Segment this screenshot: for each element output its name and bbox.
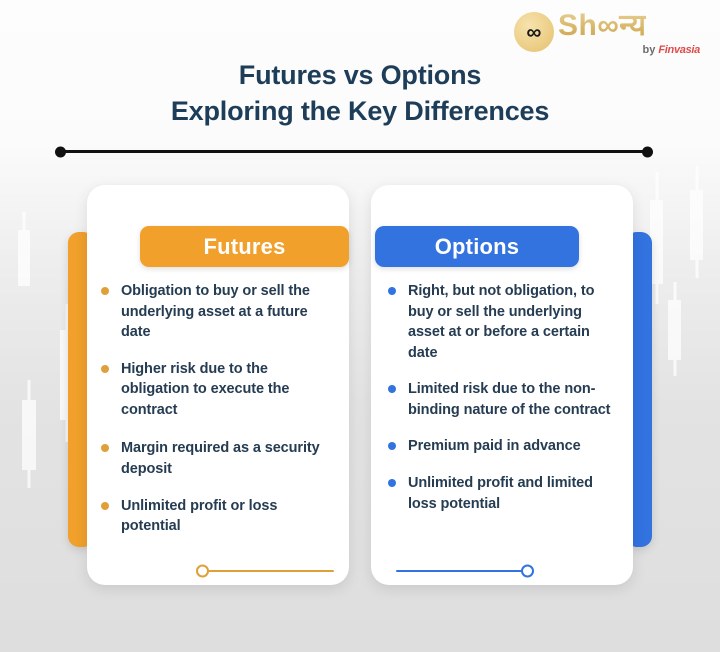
list-item-text: Higher risk due to the obligation to exe…: [121, 359, 326, 421]
infinity-icon: ∞: [514, 12, 554, 52]
list-item: Premium paid in advance: [388, 436, 613, 457]
page-title: Futures vs Options Exploring the Key Dif…: [0, 58, 720, 130]
list-item-text: Unlimited profit and limited loss potent…: [408, 473, 613, 514]
heading-badge-options: Options: [375, 226, 579, 267]
candle-bar: [690, 190, 703, 260]
list-item-text: Unlimited profit or loss potential: [121, 496, 326, 537]
bullet-dot-icon: [101, 502, 109, 510]
candle-bar: [668, 300, 681, 360]
list-item-text: Right, but not obligation, to buy or sel…: [408, 281, 613, 363]
bullet-dot-icon: [388, 442, 396, 450]
page-title-line-1: Futures vs Options: [0, 58, 720, 94]
infinity-glyph: ∞: [514, 12, 554, 52]
heading-badge-futures: Futures: [140, 226, 349, 267]
logo-byline-prefix: by: [642, 44, 658, 56]
list-item: Limited risk due to the non-binding natu…: [388, 379, 613, 420]
bullet-dot-icon: [101, 444, 109, 452]
list-item: Unlimited profit and limited loss potent…: [388, 473, 613, 514]
page-title-line-2: Exploring the Key Differences: [0, 94, 720, 130]
slider-track[interactable]: [196, 570, 334, 572]
list-item: Unlimited profit or loss potential: [101, 496, 326, 537]
slider-track[interactable]: [396, 570, 534, 572]
bullet-dot-icon: [388, 479, 396, 487]
divider-dot-right: [642, 146, 653, 157]
divider-dot-left: [55, 146, 66, 157]
bullet-dot-icon: [101, 365, 109, 373]
slider-futures[interactable]: [196, 564, 334, 578]
list-item: Margin required as a security deposit: [101, 438, 326, 479]
candle-bar: [22, 400, 36, 470]
logo-wordmark: Sh∞न्य: [558, 8, 646, 44]
logo-byline-brand: Finvasia: [658, 44, 700, 56]
bullet-dot-icon: [388, 385, 396, 393]
list-item: Higher risk due to the obligation to exe…: [101, 359, 326, 421]
list-item-text: Margin required as a security deposit: [121, 438, 326, 479]
brand-logo: ∞ Sh∞न्य by Finvasia: [506, 6, 706, 64]
list-item: Obligation to buy or sell the underlying…: [101, 281, 326, 343]
slider-handle[interactable]: [196, 565, 209, 578]
candle-bar: [18, 230, 30, 286]
logo-byline: by Finvasia: [642, 44, 700, 56]
bullet-list-options: Right, but not obligation, to buy or sel…: [388, 281, 613, 530]
bullet-dot-icon: [101, 287, 109, 295]
bullet-dot-icon: [388, 287, 396, 295]
list-item-text: Limited risk due to the non-binding natu…: [408, 379, 613, 420]
bullet-list-futures: Obligation to buy or sell the underlying…: [101, 281, 326, 553]
title-divider: [60, 150, 648, 153]
list-item-text: Obligation to buy or sell the underlying…: [121, 281, 326, 343]
heading-label-options: Options: [435, 234, 520, 260]
infographic-canvas: ∞ Sh∞न्य by Finvasia Futures vs Options …: [0, 0, 720, 652]
slider-options[interactable]: [396, 564, 534, 578]
slider-handle[interactable]: [521, 565, 534, 578]
list-item-text: Premium paid in advance: [408, 436, 581, 457]
heading-label-futures: Futures: [203, 234, 285, 260]
list-item: Right, but not obligation, to buy or sel…: [388, 281, 613, 363]
